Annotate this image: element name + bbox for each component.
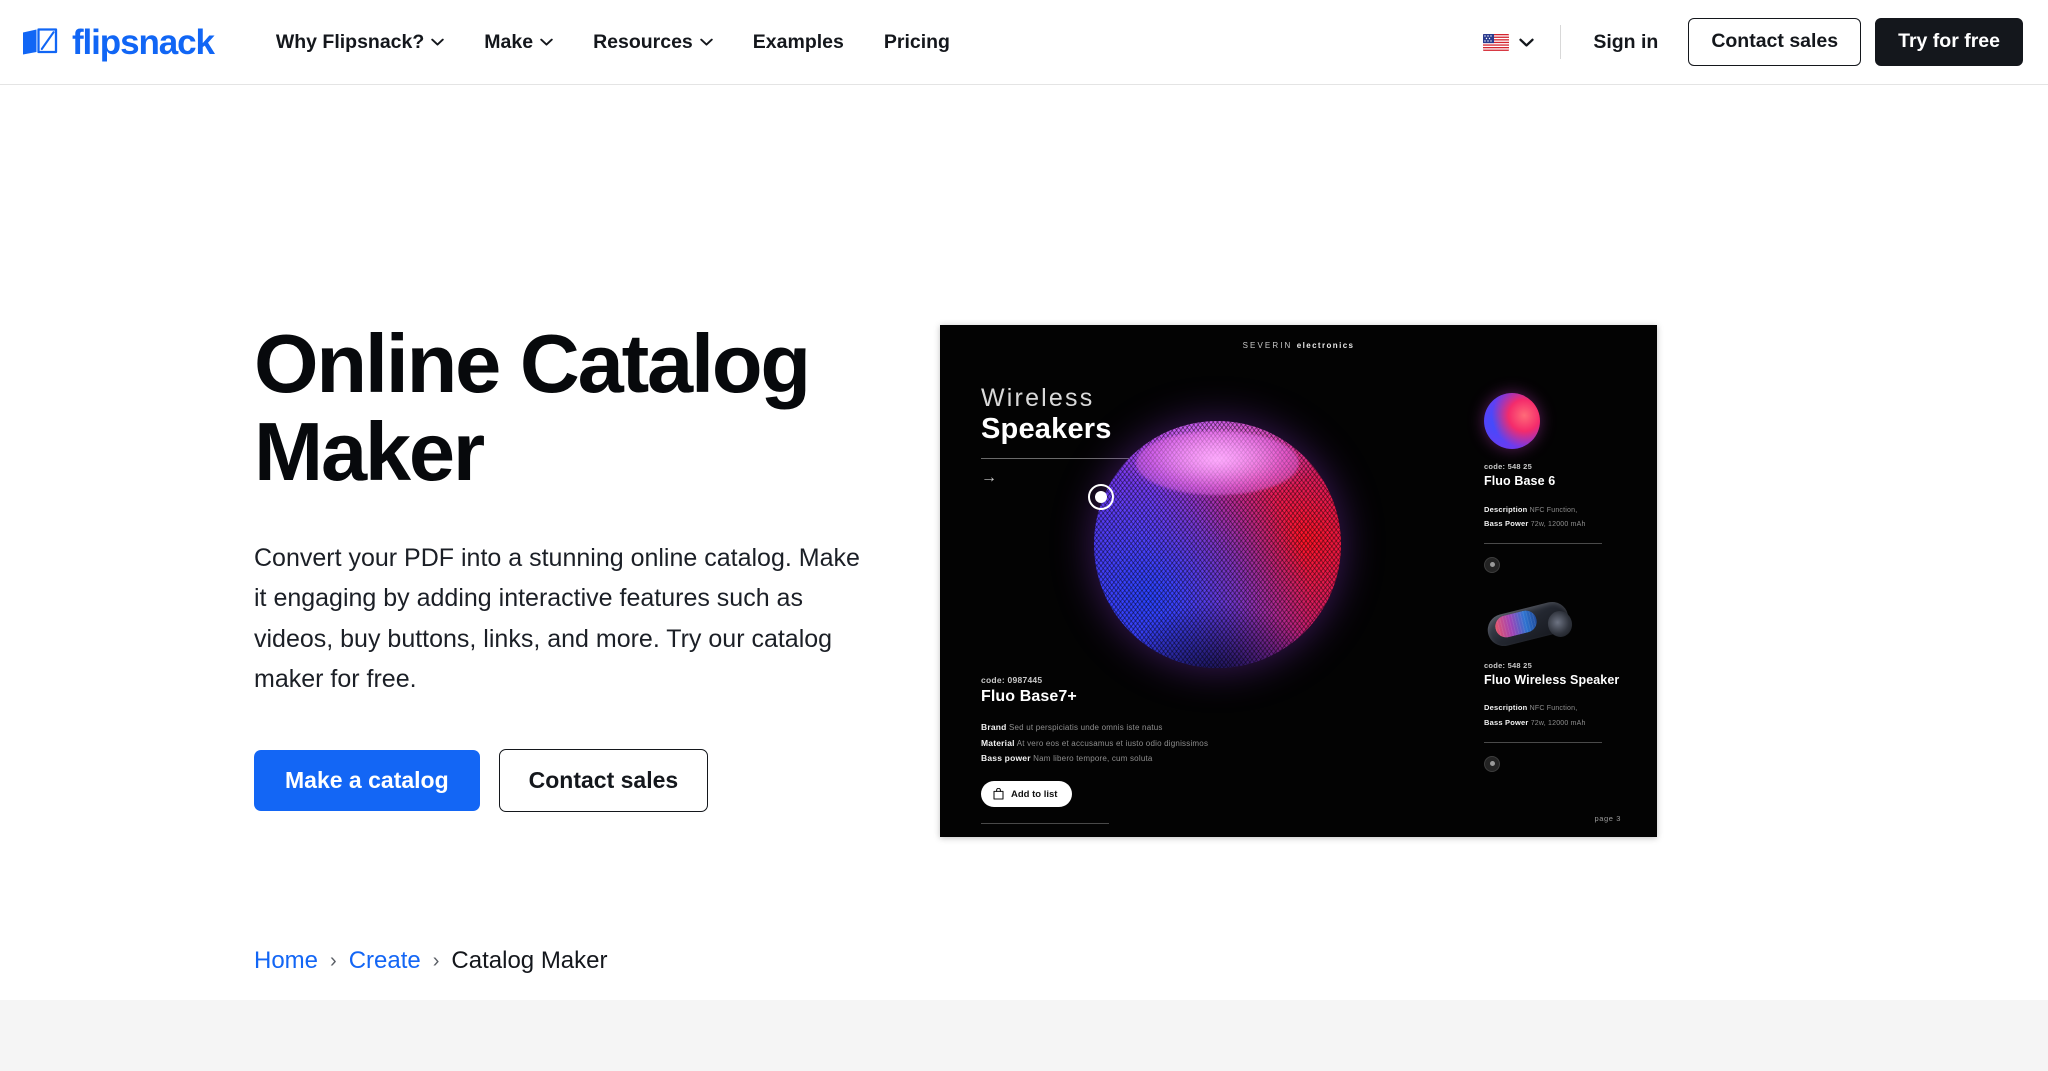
contact-sales-nav-button[interactable]: Contact sales — [1688, 18, 1861, 66]
details-divider — [981, 823, 1109, 824]
product-name: Fluo Wireless Speaker — [1484, 673, 1624, 689]
navbar-right-actions: Sign in Contact sales Try for free — [1473, 18, 2023, 66]
nav-label: Make — [484, 31, 533, 54]
spec-row: Description NFC Function, — [1484, 701, 1624, 716]
product-name: Fluo Base7+ — [981, 688, 1231, 707]
product-specs: Description NFC Function, Bass Power 72w… — [1484, 503, 1624, 532]
nav-item-make[interactable]: Make — [464, 21, 573, 64]
nav-item-pricing[interactable]: Pricing — [864, 21, 970, 64]
breadcrumb: Home › Create › Catalog Maker — [0, 947, 2048, 975]
breadcrumb-item-current: Catalog Maker — [451, 947, 607, 975]
nav-item-examples[interactable]: Examples — [733, 21, 864, 64]
make-a-catalog-button[interactable]: Make a catalog — [254, 750, 480, 811]
main-product-details: code: 0987445 Fluo Base7+ Brand Sed ut p… — [981, 675, 1231, 837]
more-info-button[interactable] — [1484, 756, 1500, 772]
catalog-brand-header: SEVERIN electronics — [940, 341, 1657, 350]
nav-label: Pricing — [884, 31, 950, 54]
more-info-button[interactable] — [1484, 557, 1500, 573]
card-divider — [1484, 742, 1602, 743]
spec-label: Bass Power — [1484, 519, 1529, 528]
try-for-free-button[interactable]: Try for free — [1875, 18, 2023, 66]
nav-label: Examples — [753, 31, 844, 54]
chevron-down-icon — [700, 38, 713, 46]
hero-image-column: SEVERIN electronics Wireless Speakers → … — [940, 235, 1657, 837]
top-navigation-bar: flipsnack Why Flipsnack? Make Resources … — [0, 0, 2048, 85]
side-product-card[interactable]: code: 548 25 Fluo Wireless Speaker Descr… — [1484, 599, 1624, 772]
spec-value: 72w, 12000 mAh — [1531, 720, 1586, 727]
spec-value: Sed ut perspiciatis unde omnis iste natu… — [1009, 723, 1163, 732]
page-number-label: page 3 — [1594, 814, 1621, 823]
breadcrumb-separator: › — [433, 950, 440, 973]
shopping-bag-icon — [993, 788, 1004, 800]
spec-label: Description — [1484, 703, 1527, 712]
spec-label: Bass Power — [1484, 718, 1529, 727]
flipsnack-book-logo-icon — [21, 27, 63, 57]
side-product-list: code: 548 25 Fluo Base 6 Description NFC… — [1484, 393, 1624, 798]
sphere-shading — [1094, 421, 1341, 668]
spec-value: At vero eos et accusamus et iusto odio d… — [1017, 739, 1208, 748]
language-selector[interactable] — [1473, 26, 1544, 59]
speaker-sphere-graphic — [1094, 421, 1341, 668]
spec-value: Nam libero tempore, cum soluta — [1033, 754, 1152, 763]
spec-label: Material — [981, 738, 1015, 748]
spec-label: Bass power — [981, 753, 1031, 763]
product-specs: Description NFC Function, Bass Power 72w… — [1484, 701, 1624, 730]
product-name: Fluo Base 6 — [1484, 474, 1624, 490]
brand-category: electronics — [1297, 341, 1355, 350]
side-product-card[interactable]: code: 548 25 Fluo Base 6 Description NFC… — [1484, 393, 1624, 573]
sphere-speaker-thumb-icon — [1484, 393, 1540, 449]
hero-description: Convert your PDF into a stunning online … — [254, 538, 879, 700]
product-specs: Brand Sed ut perspiciatis unde omnis ist… — [981, 720, 1231, 767]
spec-value: NFC Function, — [1530, 705, 1578, 712]
nav-divider — [1560, 25, 1561, 59]
nav-item-resources[interactable]: Resources — [573, 21, 733, 64]
chevron-down-icon — [1519, 38, 1534, 47]
add-to-list-label: Add to list — [1011, 790, 1057, 800]
headline-line-1: Wireless — [981, 385, 1211, 413]
chevron-down-icon — [540, 38, 553, 46]
page-title: Online Catalog Maker — [254, 320, 894, 496]
spec-label: Description — [1484, 505, 1527, 514]
chevron-down-icon — [431, 38, 444, 46]
us-flag-icon — [1483, 34, 1509, 51]
spec-value: 72w, 12000 mAh — [1531, 521, 1586, 528]
hero-section: Online Catalog Maker Convert your PDF in… — [0, 85, 2048, 837]
add-to-list-button[interactable]: Add to list — [981, 781, 1072, 807]
sign-in-link[interactable]: Sign in — [1577, 21, 1674, 64]
spec-row: Description NFC Function, — [1484, 503, 1624, 518]
cylinder-speaker-thumb-icon — [1484, 599, 1576, 649]
card-divider — [1484, 543, 1602, 544]
product-code: code: 0987445 — [981, 675, 1231, 685]
spec-value: NFC Function, — [1530, 507, 1578, 514]
nav-item-why-flipsnack[interactable]: Why Flipsnack? — [256, 21, 464, 64]
nav-label: Why Flipsnack? — [276, 31, 424, 54]
flipsnack-logo[interactable]: flipsnack — [21, 25, 214, 60]
nav-label: Resources — [593, 31, 693, 54]
spec-row: Bass Power 72w, 12000 mAh — [1484, 517, 1624, 532]
spec-row: Brand Sed ut perspiciatis unde omnis ist… — [981, 720, 1231, 736]
breadcrumb-item-home[interactable]: Home — [254, 947, 318, 975]
logo-wordmark: flipsnack — [72, 25, 214, 60]
catalog-preview-image[interactable]: SEVERIN electronics Wireless Speakers → … — [940, 325, 1657, 837]
spec-row: Bass power Nam libero tempore, cum solut… — [981, 751, 1231, 767]
next-section-band — [0, 1000, 2048, 1071]
spec-row: Bass Power 72w, 12000 mAh — [1484, 716, 1624, 731]
dot-icon — [1490, 562, 1495, 567]
contact-sales-button[interactable]: Contact sales — [499, 749, 709, 812]
brand-name: SEVERIN — [1243, 341, 1297, 350]
interactive-hotspot-marker[interactable] — [1088, 484, 1114, 510]
breadcrumb-item-create[interactable]: Create — [349, 947, 421, 975]
hotspot-dot-icon — [1095, 491, 1107, 503]
breadcrumb-separator: › — [330, 950, 337, 973]
hero-text-column: Online Catalog Maker Convert your PDF in… — [254, 235, 894, 812]
hero-cta-group: Make a catalog Contact sales — [254, 749, 894, 812]
spec-label: Brand — [981, 722, 1007, 732]
product-code: code: 548 25 — [1484, 661, 1624, 670]
spec-row: Material At vero eos et accusamus et ius… — [981, 736, 1231, 752]
primary-nav: Why Flipsnack? Make Resources Examples P… — [256, 21, 970, 64]
dot-icon — [1490, 761, 1495, 766]
product-code: code: 548 25 — [1484, 462, 1624, 471]
